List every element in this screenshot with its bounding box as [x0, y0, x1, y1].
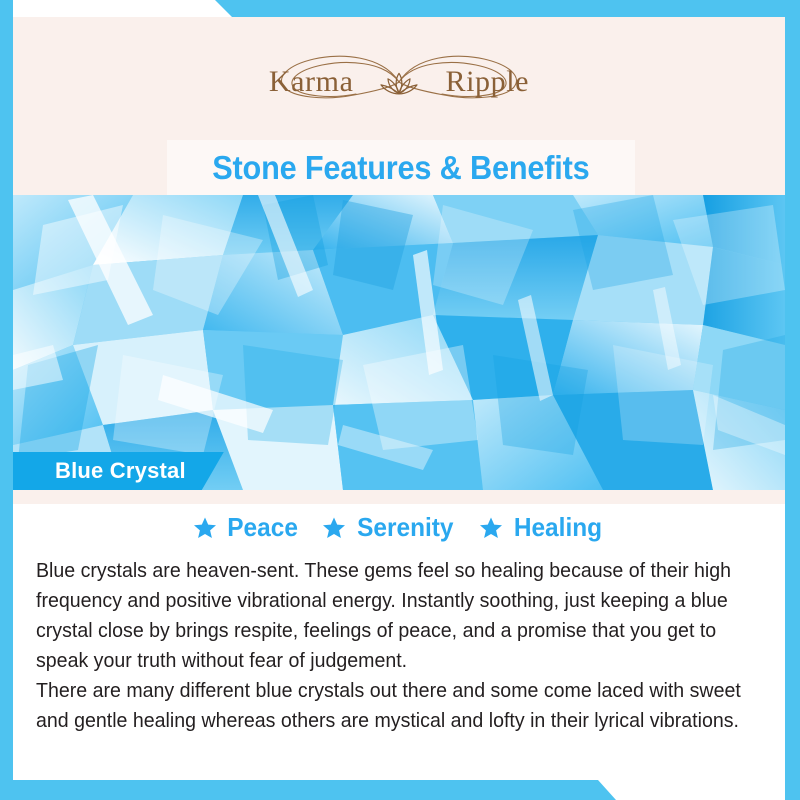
left-accent-strip: [0, 0, 13, 800]
top-accent-band: [0, 0, 800, 17]
keyword-row: Peace Serenity Healing: [13, 512, 785, 543]
infographic-page: Karma Ripple Stone Features & Benefits: [0, 0, 800, 800]
hero-label-text: Blue Crystal: [55, 458, 186, 484]
brand-name-left: Karma: [269, 67, 354, 97]
paragraph: Blue crystals are heaven-sent. These gem…: [36, 556, 771, 676]
keyword-item-serenity: Serenity: [322, 512, 457, 543]
paragraph: There are many different blue crystals o…: [36, 676, 771, 736]
star-icon: [322, 516, 346, 540]
keyword-item-healing: Healing: [479, 512, 605, 543]
lotus-icon: [377, 66, 421, 100]
brand-logo: Karma Ripple: [13, 47, 785, 117]
hero-crystal-image: [13, 195, 785, 490]
star-icon: [193, 516, 217, 540]
keyword-label: Serenity: [357, 512, 453, 543]
star-icon: [479, 516, 503, 540]
right-accent-strip: [785, 17, 800, 800]
bottom-accent-band: [0, 780, 800, 800]
keyword-label: Peace: [227, 512, 298, 543]
page-title-plate: Stone Features & Benefits: [167, 140, 635, 195]
page-title: Stone Features & Benefits: [212, 149, 589, 187]
brand-name-right: Ripple: [446, 67, 530, 97]
hero-underline-strip: [13, 490, 785, 504]
keyword-label: Healing: [514, 512, 602, 543]
body-copy: Blue crystals are heaven-sent. These gem…: [36, 556, 772, 736]
keyword-item-peace: Peace: [193, 512, 300, 543]
hero-label-banner: Blue Crystal: [13, 452, 224, 490]
crystal-facets-graphic: [13, 195, 785, 490]
